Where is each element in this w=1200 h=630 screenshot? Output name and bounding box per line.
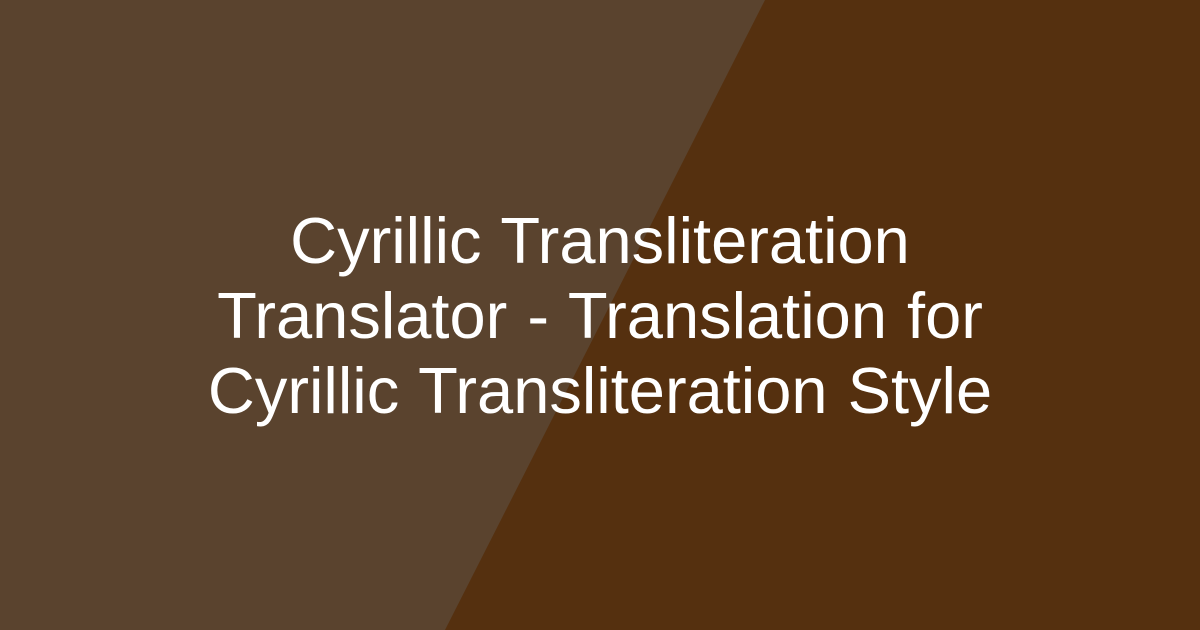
og-preview-card: Cyrillic Transliteration Translator - Tr… bbox=[0, 0, 1200, 630]
title-container: Cyrillic Transliteration Translator - Tr… bbox=[0, 0, 1200, 630]
page-title: Cyrillic Transliteration Translator - Tr… bbox=[60, 203, 1140, 428]
